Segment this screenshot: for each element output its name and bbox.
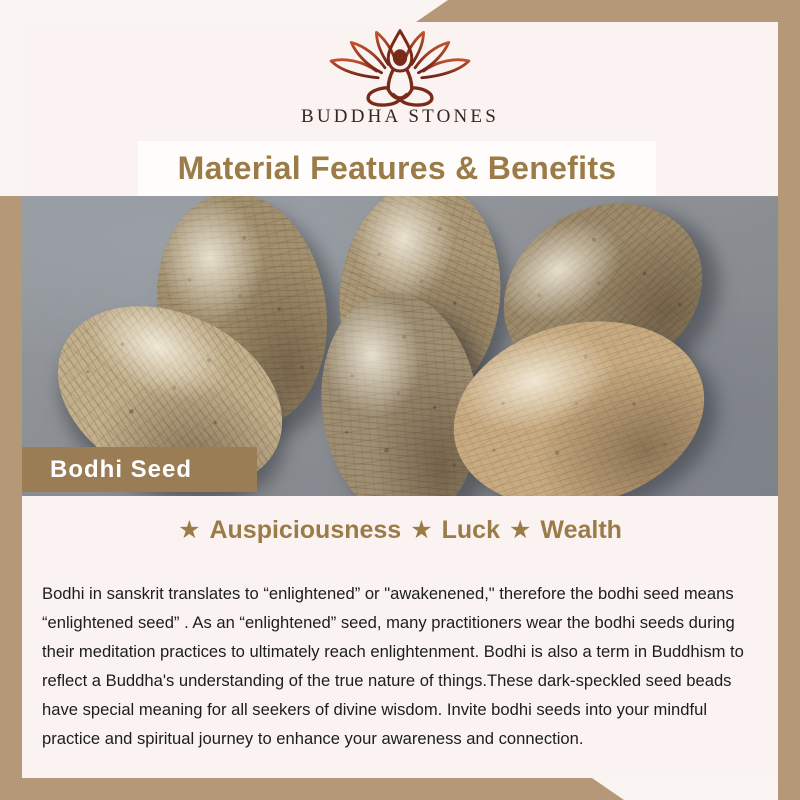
star-icon: ★ [178,518,200,543]
description-paragraph: Bodhi in sanskrit translates to “enlight… [42,579,764,753]
frame-band-top [0,0,800,22]
infographic-page: BUDDHA STONES Material Features & Benefi… [0,0,800,800]
brand-header: BUDDHA STONES [22,22,778,136]
benefit-wealth: Wealth [540,518,622,543]
seed-name-banner: Bodhi Seed [22,447,257,492]
benefit-luck: Luck [442,518,500,543]
star-icon: ★ [509,518,531,543]
frame-band-left [0,196,22,800]
benefit-auspiciousness: Auspiciousness [209,518,401,543]
title-banner: Material Features & Benefits [138,141,656,196]
frame-band-right [778,0,800,800]
lotus-meditation-icon [316,24,484,108]
benefits-row: ★ Auspiciousness ★ Luck ★ Wealth [22,518,778,543]
frame-band-bottom [0,778,800,800]
star-icon: ★ [410,518,432,543]
page-title: Material Features & Benefits [178,150,617,187]
brand-name: BUDDHA STONES [301,106,499,128]
seed-name-label: Bodhi Seed [22,456,192,484]
